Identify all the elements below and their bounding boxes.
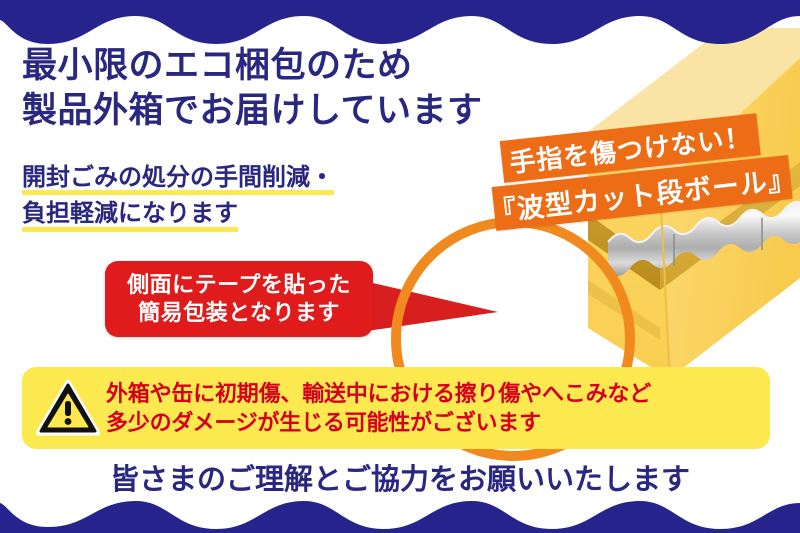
page-title: 最小限のエコ梱包のため 製品外箱でお届けしています [22, 44, 482, 134]
warning-box: 外箱や缶に初期傷、輸送中における擦り傷やへこみなど 多少のダメージが生じる可能性… [22, 367, 770, 449]
subcopy-line-2: 負担軽減になります [22, 196, 238, 232]
subcopy: 開封ごみの処分の手間削減・ 負担軽減になります [22, 160, 334, 233]
warning-triangle-icon [36, 379, 100, 437]
warning-text: 外箱や缶に初期傷、輸送中における擦り傷やへこみなど 多少のダメージが生じる可能性… [106, 379, 651, 438]
red-callout: 側面にテープを貼った 簡易包装となります [105, 261, 373, 337]
promo-banner: 最小限のエコ梱包のため 製品外箱でお届けしています 開封ごみの処分の手間削減・ … [0, 0, 800, 533]
headline-line-2: 製品外箱でお届けしています [22, 89, 482, 134]
headline-line-1: 最小限のエコ梱包のため [22, 44, 482, 89]
warning-line-1: 外箱や缶に初期傷、輸送中における擦り傷やへこみなど [106, 379, 651, 408]
subcopy-line-1: 開封ごみの処分の手間削減・ [22, 160, 334, 196]
red-callout-line-2: 簡易包装となります [138, 299, 340, 327]
red-callout-line-1: 側面にテープを貼った [127, 271, 351, 299]
closing-message: 皆さまのご理解とご協力をお願いいたします [0, 456, 800, 498]
warning-line-2: 多少のダメージが生じる可能性がございます [106, 408, 651, 437]
